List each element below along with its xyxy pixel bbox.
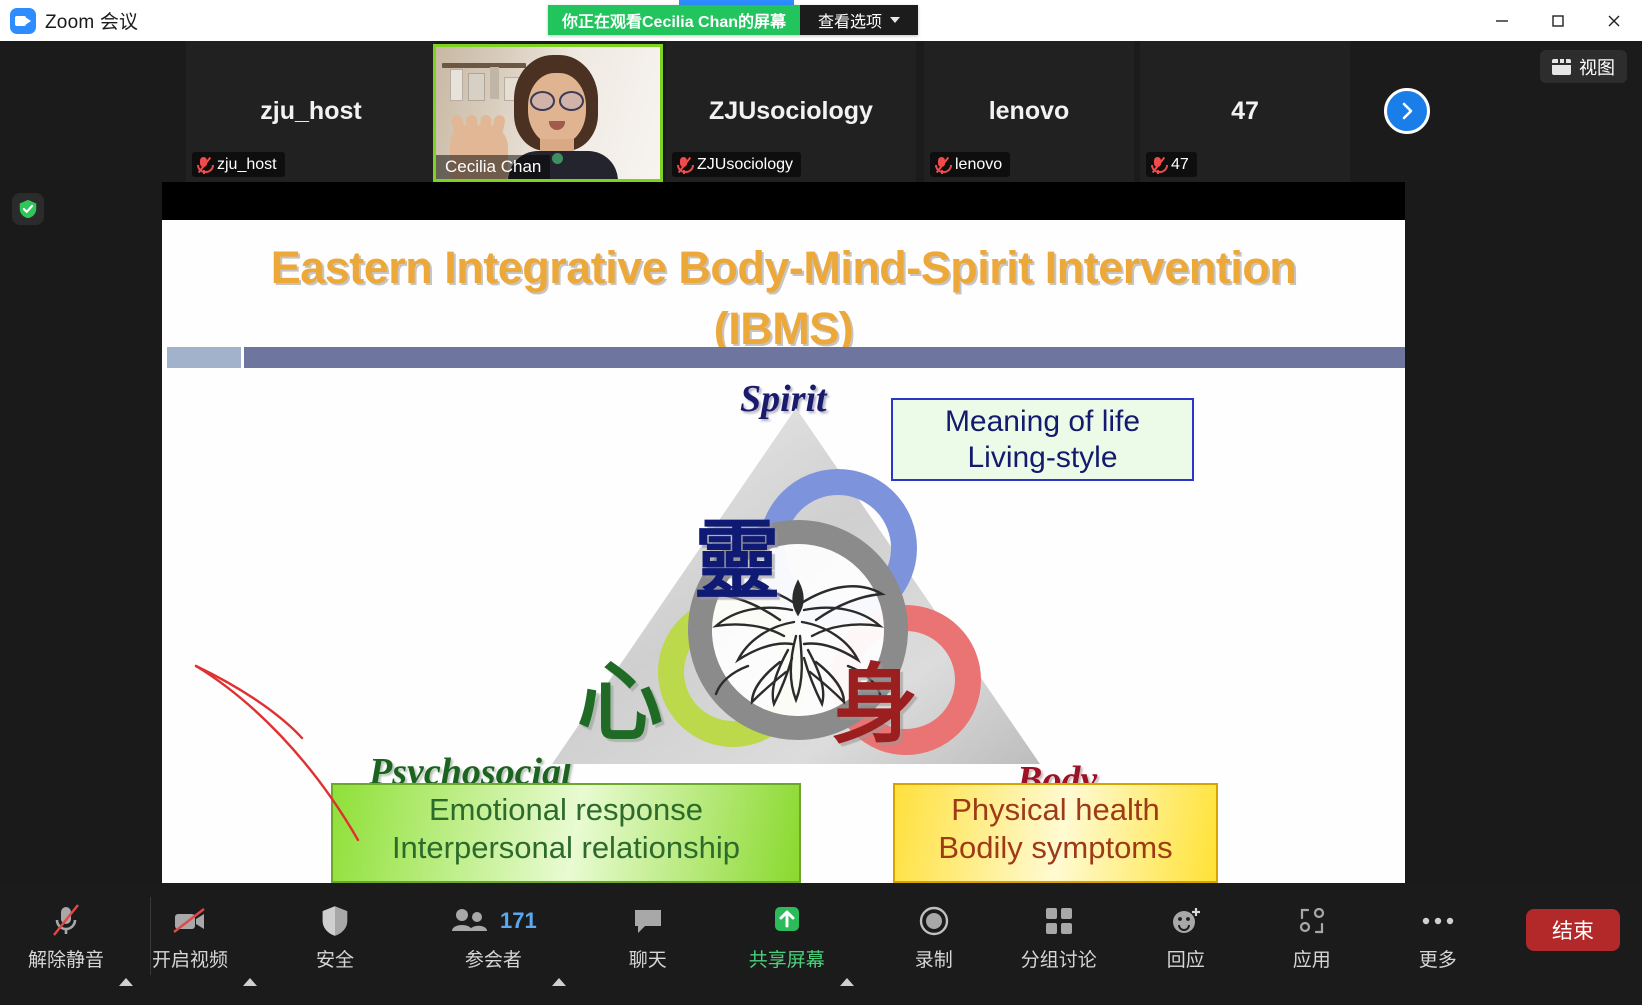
box-meaning-of-life: Meaning of life Living-style [891, 398, 1194, 481]
share-screen-icon [769, 901, 805, 941]
participant-tile-lenovo[interactable]: lenovo lenovo [924, 41, 1134, 182]
participant-name-bar: lenovo [930, 152, 1010, 177]
more-dots-icon [1421, 901, 1455, 941]
slide-title: Eastern Integrative Body-Mind-Spirit Int… [202, 238, 1365, 360]
slide-accent-band [241, 347, 1405, 368]
microphone-muted-icon [1150, 156, 1165, 174]
view-options-button[interactable]: 查看选项 [800, 5, 918, 35]
participant-name-label: zju_host [217, 156, 277, 174]
toolbar-button-security[interactable]: 安全 [288, 893, 382, 987]
toolbar-button-share-screen[interactable]: 共享屏幕 [739, 893, 835, 987]
participant-display-name: 47 [1231, 97, 1259, 126]
participant-name-label: lenovo [955, 156, 1002, 174]
participants-count-badge: 171 [500, 908, 537, 934]
apps-icon [1296, 901, 1328, 941]
sharing-banner: 你正在观看Cecilia Chan的屏幕 查看选项 [548, 5, 918, 35]
participant-name-bar: ZJUsociology [672, 152, 801, 177]
participant-display-name: lenovo [989, 97, 1070, 126]
participants-icon: 171 [450, 901, 537, 941]
participants-options-caret[interactable] [543, 961, 575, 979]
box-meaning-line2: Living-style [967, 440, 1117, 475]
microphone-muted-icon [196, 156, 211, 174]
shared-screen-area: Eastern Integrative Body-Mind-Spirit Int… [162, 182, 1405, 883]
chevron-up-icon [119, 961, 133, 986]
toolbar-label: 应用 [1293, 945, 1331, 972]
toolbar-label: 录制 [915, 945, 953, 972]
reactions-icon [1169, 901, 1203, 941]
toolbar-label: 安全 [316, 945, 354, 972]
view-button[interactable]: 视图 [1540, 50, 1627, 83]
box-psychosocial: Emotional response Interpersonal relatio… [331, 783, 801, 883]
meeting-toolbar: 解除静音 开启视频 安全 [0, 883, 1642, 1005]
toolbar-label: 开启视频 [152, 945, 228, 972]
toolbar-button-apps[interactable]: 应用 [1265, 893, 1359, 987]
cjk-character-body: 身 [832, 662, 918, 748]
slide-accent-band-small [167, 347, 241, 368]
microphone-muted-icon [676, 156, 691, 174]
maximize-icon[interactable] [1530, 0, 1586, 41]
toolbar-button-breakout-rooms[interactable]: 分组讨论 [1011, 893, 1107, 987]
box-meaning-line1: Meaning of life [945, 404, 1140, 439]
shield-icon [320, 901, 350, 941]
toolbar-button-chat[interactable]: 聊天 [601, 893, 695, 987]
toolbar-button-record[interactable]: 录制 [887, 893, 981, 987]
toolbar-label: 共享屏幕 [749, 945, 825, 972]
toolbar-label: 回应 [1167, 945, 1205, 972]
close-icon[interactable] [1586, 0, 1642, 41]
participant-name-bar: 47 [1146, 152, 1197, 177]
toolbar-label: 解除静音 [28, 945, 104, 972]
toolbar-label: 聊天 [629, 945, 667, 972]
slide-letterbox-top [162, 182, 1405, 220]
box-body-line2: Bodily symptoms [938, 829, 1172, 867]
glasses-icon [530, 91, 584, 108]
video-options-caret[interactable] [234, 961, 266, 979]
chevron-up-icon [243, 961, 257, 986]
microphone-muted-icon [934, 156, 949, 174]
toolbar-button-more[interactable]: 更多 [1391, 893, 1485, 987]
view-options-label: 查看选项 [818, 8, 882, 32]
presentation-slide: Eastern Integrative Body-Mind-Spirit Int… [162, 220, 1405, 883]
breakout-rooms-icon [1043, 901, 1075, 941]
toolbar-items: 解除静音 开启视频 安全 [18, 893, 1485, 979]
participant-tile-zjusociology[interactable]: ZJUsociology ZJUsociology [666, 41, 916, 182]
end-meeting-button[interactable]: 结束 [1526, 909, 1620, 951]
video-off-icon [171, 901, 209, 941]
toolbar-label: 更多 [1419, 945, 1457, 972]
security-shield-button[interactable] [12, 193, 44, 225]
zoom-logo-icon [10, 8, 36, 34]
background-object [490, 67, 499, 99]
background-shelf [442, 63, 526, 68]
chevron-down-icon [890, 17, 900, 23]
participant-display-name: zju_host [260, 97, 361, 126]
audio-options-caret[interactable] [110, 961, 142, 979]
slide-title-line1: Eastern Integrative Body-Mind-Spirit Int… [202, 238, 1365, 299]
toolbar-label: 分组讨论 [1021, 945, 1097, 972]
necklace-pendant [552, 153, 563, 164]
background-object [468, 73, 485, 101]
box-body-line1: Physical health [951, 791, 1160, 829]
toolbar-button-start-video[interactable]: 开启视频 [142, 893, 238, 987]
sharing-status-text: 你正在观看Cecilia Chan的屏幕 [548, 5, 800, 35]
record-icon [917, 901, 951, 941]
zoom-meeting-window: Zoom 会议 你正在观看Cecilia Chan的屏幕 查看选项 zju_ho… [0, 0, 1642, 1005]
window-controls [1474, 0, 1642, 41]
chevron-up-icon [840, 961, 854, 986]
view-button-label: 视图 [1579, 54, 1615, 80]
chat-bubble-icon [631, 901, 665, 941]
toolbar-button-reactions[interactable]: 回应 [1139, 893, 1233, 987]
cjk-character-mind: 心 [577, 660, 663, 746]
participant-tile-47[interactable]: 47 47 [1140, 41, 1350, 182]
box-psychosocial-line2: Interpersonal relationship [392, 829, 740, 867]
share-options-caret[interactable] [831, 961, 863, 979]
background-object [450, 69, 463, 101]
active-speaker-name-label: Cecilia Chan [436, 155, 550, 179]
participant-tile-cecilia-chan[interactable]: Cecilia Chan [433, 44, 663, 182]
box-body: Physical health Bodily symptoms [893, 783, 1218, 883]
chevron-up-icon [552, 961, 566, 986]
microphone-muted-icon [49, 901, 83, 941]
participant-tile-zju_host[interactable]: zju_host zju_host [186, 41, 436, 182]
shield-check-icon [17, 198, 39, 220]
cjk-character-spirit: 靈 [694, 518, 780, 604]
box-psychosocial-line1: Emotional response [429, 791, 703, 829]
minimize-icon[interactable] [1474, 0, 1530, 41]
participant-name-label: 47 [1171, 156, 1189, 174]
toolbar-label: 参会者 [465, 945, 522, 972]
layout-grid-icon [1552, 59, 1571, 75]
toolbar-button-participants[interactable]: 171 参会者 [440, 893, 547, 987]
participant-name-bar: zju_host [192, 152, 285, 177]
filmstrip-next-button[interactable] [1384, 88, 1430, 134]
title-bar-left: Zoom 会议 [10, 0, 138, 41]
app-title: Zoom 会议 [45, 7, 138, 34]
toolbar-button-unmute[interactable]: 解除静音 [18, 893, 114, 987]
participant-name-label: ZJUsociology [697, 156, 793, 174]
participant-display-name: ZJUsociology [709, 97, 873, 126]
